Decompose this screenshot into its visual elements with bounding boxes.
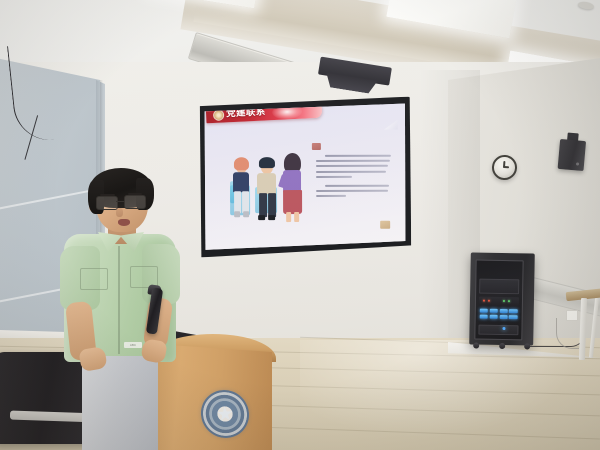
slide-body-text (316, 155, 392, 201)
speaker-logo (576, 162, 579, 165)
floor-reflection (300, 340, 600, 450)
wall-mounted-speaker (558, 135, 587, 171)
rack-button[interactable] (509, 315, 517, 319)
presenter-nose (116, 208, 123, 217)
rack-button[interactable] (490, 309, 498, 313)
rack-button[interactable] (499, 315, 507, 319)
decorative-corner-icon (384, 120, 398, 130)
shirt-placket (118, 246, 120, 354)
three-people-illustration (228, 155, 312, 233)
speaker-cabinet (558, 139, 587, 171)
rack-caster (499, 343, 505, 349)
quote-close-icon (380, 221, 390, 229)
shirt-tag: ABC (124, 342, 142, 348)
rack-button[interactable] (489, 314, 497, 318)
rack-unit-amplifier (479, 279, 519, 295)
rack-power-indicator (502, 327, 505, 330)
presentation-display[interactable]: 党建联系 (199, 97, 412, 258)
handheld-microphone[interactable] (143, 288, 167, 350)
quote-open-icon (312, 143, 321, 150)
rack-button[interactable] (509, 309, 517, 313)
shirt-pocket (80, 268, 108, 290)
rack-glass-door[interactable] (474, 260, 523, 341)
microphone-body (146, 287, 163, 334)
display-screen[interactable]: 党建联系 (204, 103, 407, 252)
rack-button[interactable] (480, 309, 488, 313)
presentation-slide: 党建联系 (204, 103, 407, 252)
party-emblem-icon (213, 110, 225, 122)
rack-button[interactable] (499, 309, 507, 313)
av-equipment-rack[interactable] (469, 252, 535, 345)
rack-caster (473, 343, 479, 349)
eyeglasses-icon (96, 196, 146, 209)
rack-button[interactable] (480, 314, 488, 318)
presenter-mouth (118, 219, 130, 226)
table-leg (579, 298, 587, 360)
smoke-detector-icon (578, 1, 595, 11)
rack-unit-controller (479, 297, 519, 307)
conference-room-photo: 党建联系 (0, 0, 600, 450)
rack-unit-blank (478, 325, 518, 336)
presenter: ABC (58, 172, 188, 450)
rack-control-buttons[interactable] (480, 309, 520, 319)
table-leg (589, 298, 599, 358)
